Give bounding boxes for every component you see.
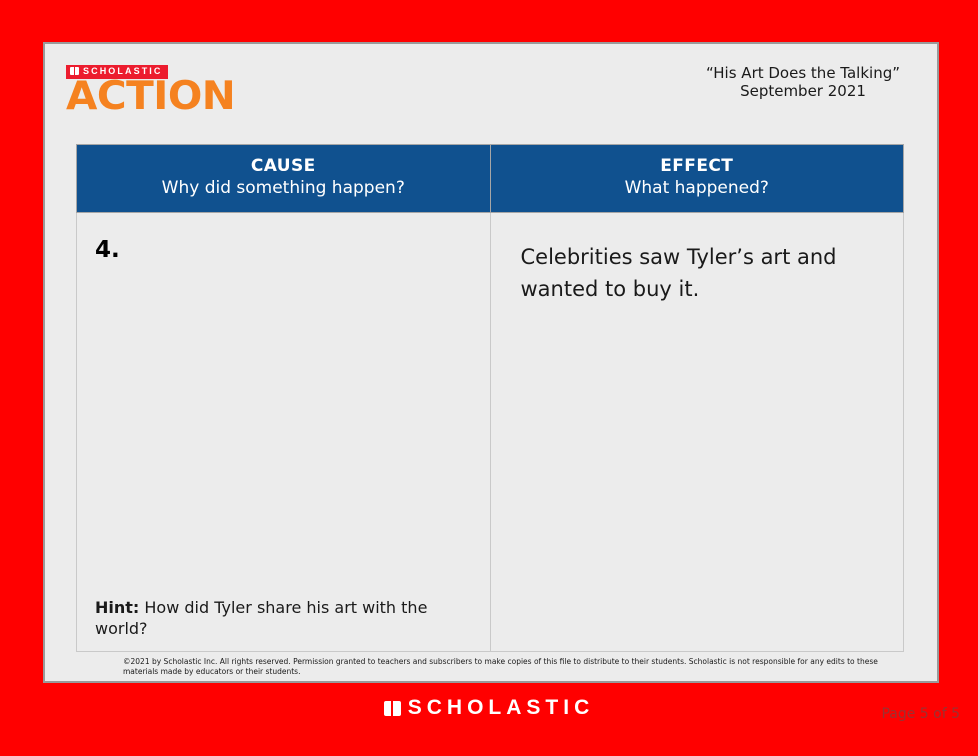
footer-logo-inner: SCHOLASTIC: [384, 697, 595, 719]
scholastic-action-logo: SCHOLASTIC ACTION: [66, 60, 266, 117]
table-row: 4. Hint: How did Tyler share his art wit…: [77, 213, 904, 652]
effect-cell-inner: Celebrities saw Tyler’s art and wanted t…: [491, 213, 904, 651]
effect-cell: Celebrities saw Tyler’s art and wanted t…: [490, 213, 904, 652]
cause-hint: Hint: How did Tyler share his art with t…: [95, 597, 466, 639]
cause-hint-label: Hint:: [95, 598, 139, 617]
column-header-cause-subtitle: Why did something happen?: [83, 177, 484, 199]
table-header-row: CAUSE Why did something happen? EFFECT W…: [77, 145, 904, 213]
footer-scholastic-label: SCHOLASTIC: [408, 697, 595, 719]
issue-info: “His Art Does the Talking” September 202…: [689, 64, 917, 100]
book-icon: [384, 701, 401, 716]
copyright-notice: ©2021 by Scholastic Inc. All rights rese…: [123, 657, 897, 677]
cause-item-number: 4.: [95, 237, 468, 263]
cause-effect-table: CAUSE Why did something happen? EFFECT W…: [76, 144, 904, 652]
column-header-cause: CAUSE Why did something happen?: [77, 145, 491, 213]
cause-cell-inner: 4. Hint: How did Tyler share his art wit…: [77, 213, 490, 651]
column-header-effect: EFFECT What happened?: [490, 145, 904, 213]
column-header-effect-title: EFFECT: [497, 156, 898, 177]
cause-cell[interactable]: 4. Hint: How did Tyler share his art wit…: [77, 213, 491, 652]
cause-hint-text: How did Tyler share his art with the wor…: [95, 598, 427, 638]
worksheet-page: SCHOLASTIC ACTION “His Art Does the Talk…: [43, 42, 939, 683]
effect-text: Celebrities saw Tyler’s art and wanted t…: [509, 237, 882, 305]
worksheet-header: SCHOLASTIC ACTION “His Art Does the Talk…: [45, 44, 937, 132]
footer-scholastic-logo: SCHOLASTIC: [0, 697, 978, 720]
page-indicator: Page 5 of 5: [881, 706, 960, 722]
action-wordmark: ACTION: [66, 77, 274, 117]
column-header-effect-subtitle: What happened?: [497, 177, 898, 199]
column-header-cause-title: CAUSE: [83, 156, 484, 177]
